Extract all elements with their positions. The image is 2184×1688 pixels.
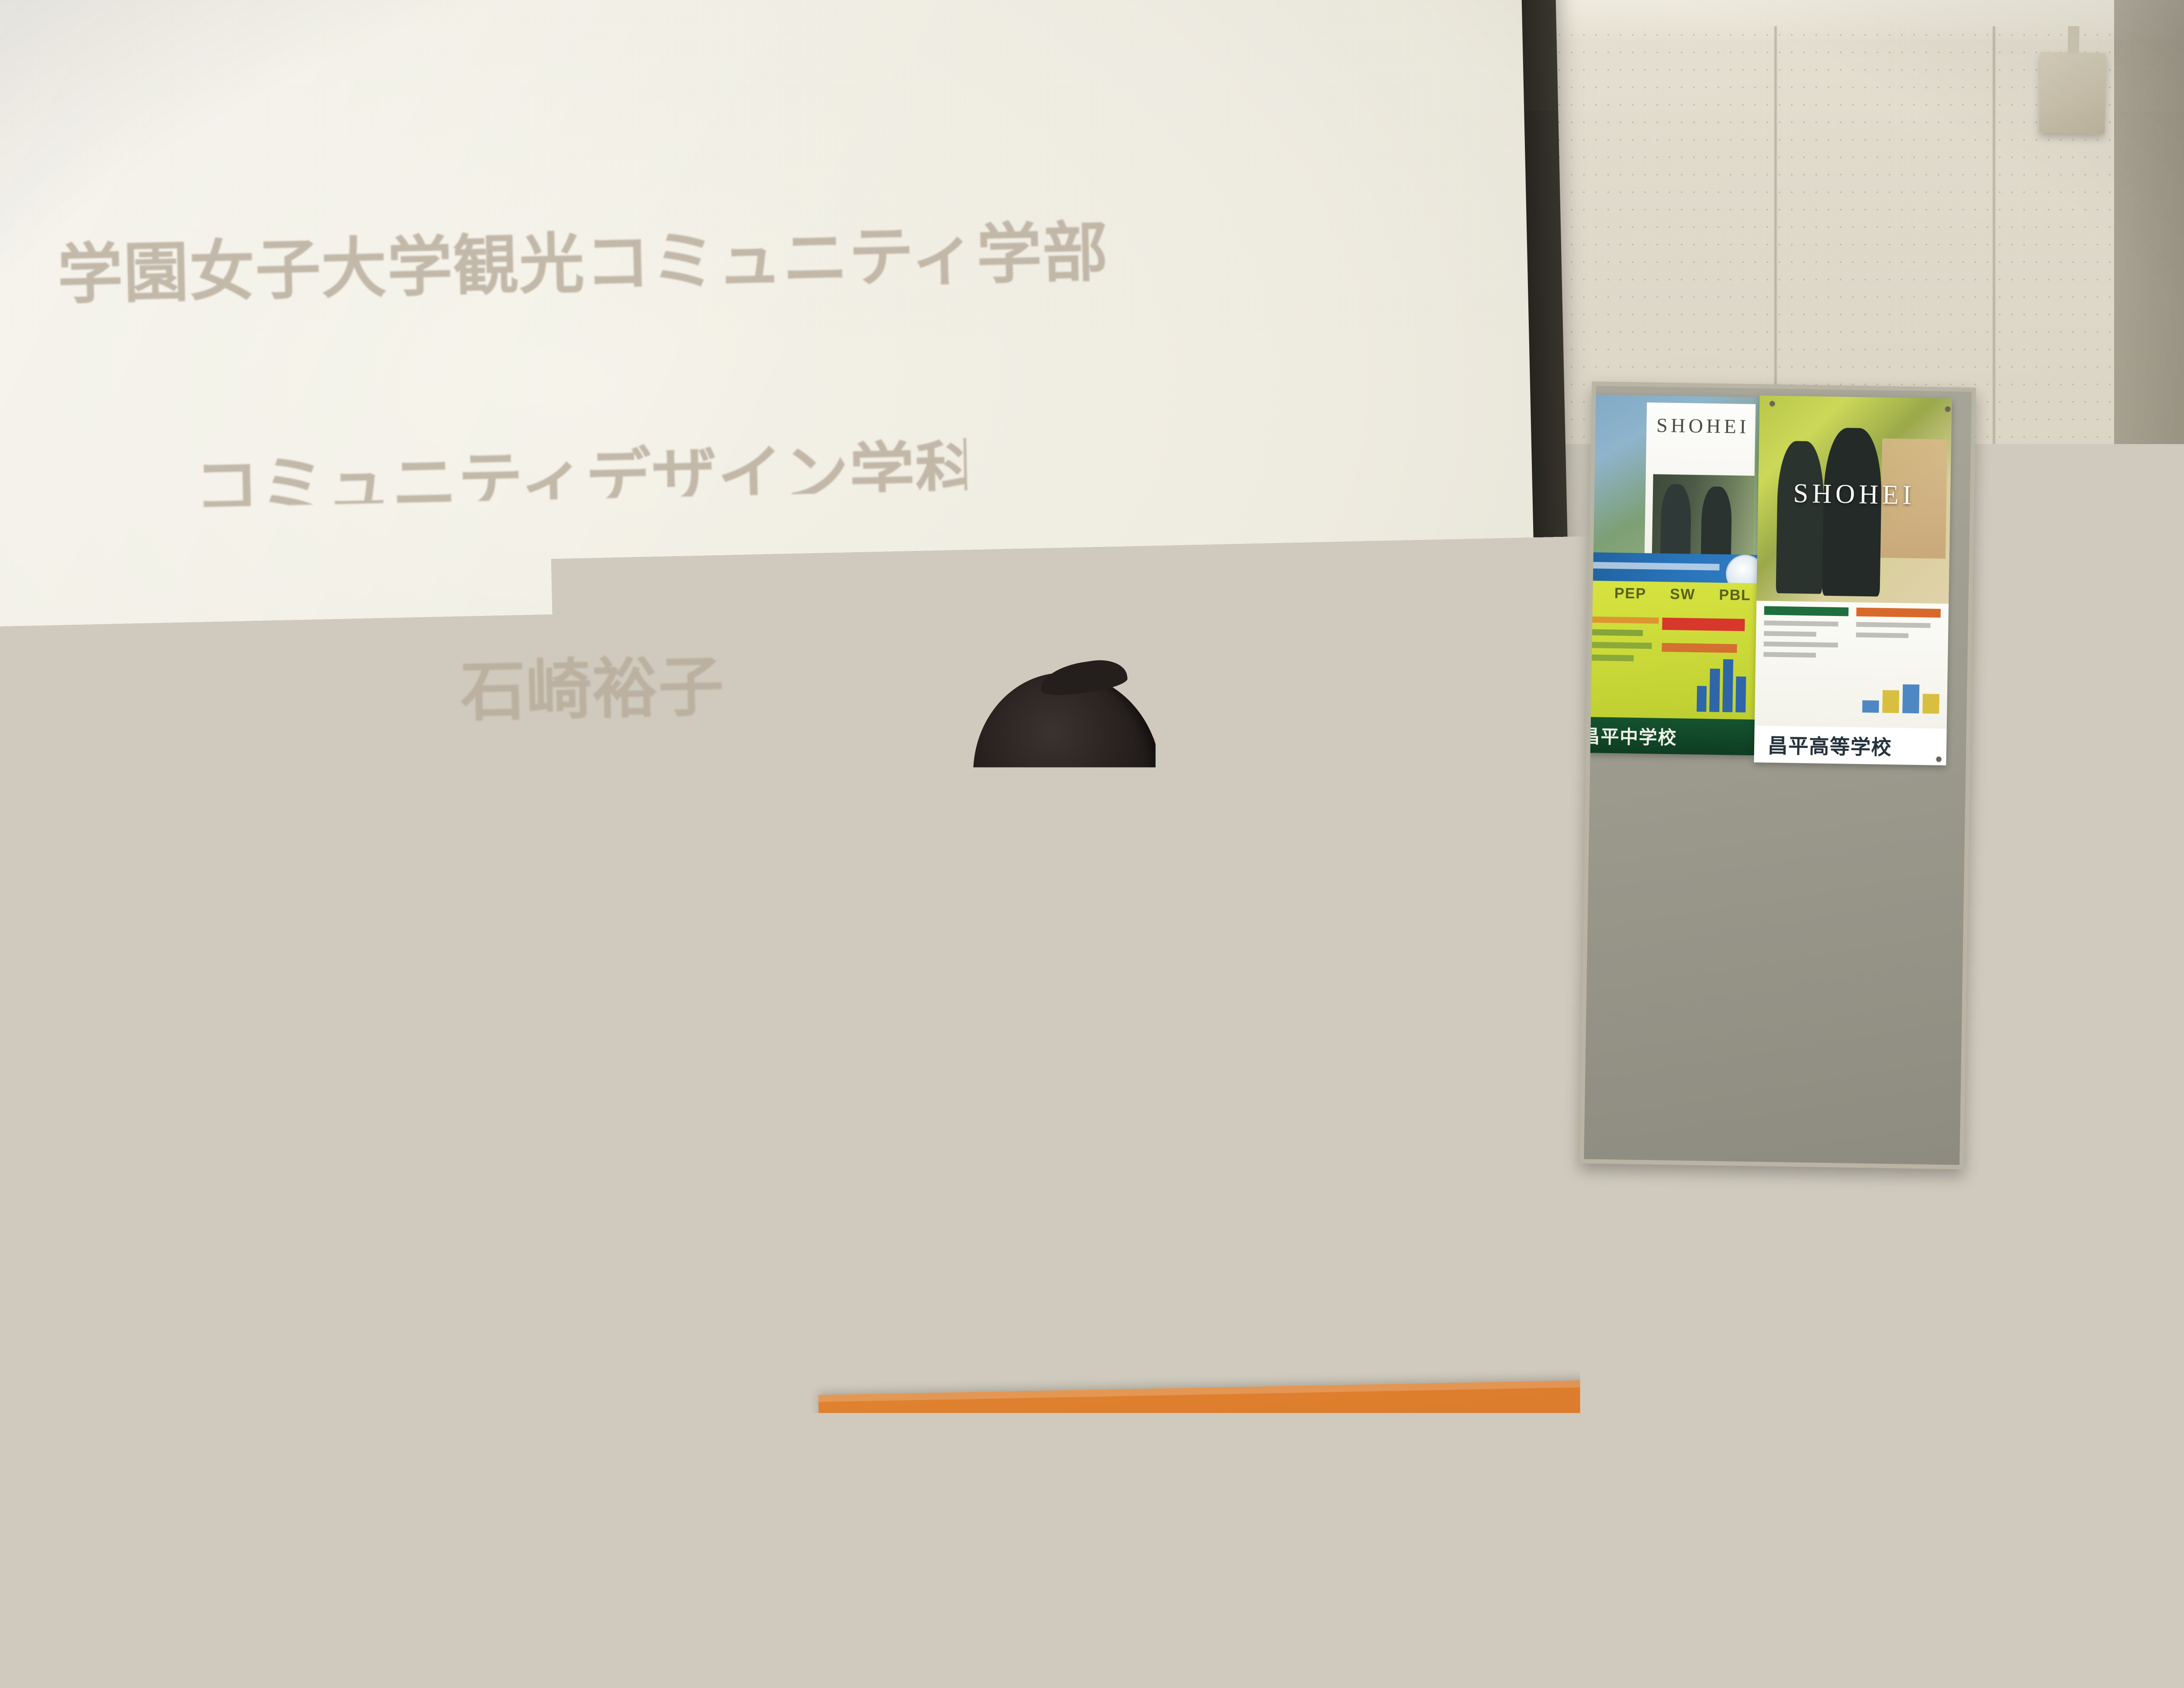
- poster-b-header-bar: [1856, 608, 1941, 618]
- poster-a-row: [1584, 629, 1643, 636]
- bulletin-board: SHOHEI IB PEP SW PBL: [1579, 381, 1976, 1169]
- poster-a-bar: [1697, 686, 1707, 712]
- poster-a-row: [1584, 642, 1652, 649]
- poster-a-row: [1584, 654, 1634, 661]
- wall-fixture-bracket: [2039, 52, 2106, 134]
- poster-b-info-panel: [1755, 601, 1949, 729]
- poster-b-bar-chart: [1863, 680, 1940, 713]
- poster-b-column-right: [1856, 608, 1941, 644]
- poster-b-bar: [1923, 694, 1940, 713]
- speaker-nose: [1158, 797, 1183, 837]
- poster-shohei-junior-high: SHOHEI IB PEP SW PBL: [1584, 394, 1759, 755]
- poster-b-text-line: [1856, 633, 1908, 638]
- poster-b-text-line: [1764, 620, 1838, 626]
- poster-b-header-bar: [1764, 606, 1849, 616]
- poster-a-bar: [1735, 677, 1746, 713]
- poster-a-bar: [1710, 669, 1720, 712]
- program-code-sw: SW: [1670, 586, 1696, 603]
- speaker-hair: [973, 673, 1161, 847]
- poster-b-column-left: [1763, 606, 1849, 664]
- poster-a-red-bar: [1662, 618, 1745, 631]
- poster-a-brand: SHOHEI: [1654, 413, 1752, 438]
- badge-text-line: [1153, 1179, 1234, 1189]
- poster-b-bar: [1903, 685, 1920, 713]
- poster-a-bar: [1722, 659, 1733, 712]
- poster-a-program-codes: IB PEP SW PBL: [1584, 584, 1751, 604]
- poster-a-red-bar-2: [1662, 643, 1737, 653]
- lecture-hall-photo: 現に向けて 学園女子大学観光コミュニティ学部 コミュニティデザイン学科 石崎裕子…: [0, 0, 2184, 1688]
- poster-a-footer-school-name: 昌平中学校: [1584, 716, 1755, 755]
- poster-b-photo: SHOHEI: [1756, 395, 1952, 604]
- poster-b-student-2: [1822, 427, 1882, 597]
- badge-text-lines: [1153, 1179, 1235, 1208]
- poster-b-text-line: [1763, 641, 1838, 647]
- program-code-pbl: PBL: [1719, 586, 1751, 604]
- badge-color-band: [1144, 1158, 1240, 1175]
- wall-seam-vertical-3: [1992, 26, 1996, 1468]
- badge-text-line: [1153, 1188, 1211, 1196]
- poster-b-footer-school-name: 昌平高等学校: [1754, 726, 1946, 765]
- badge-text-line: [1154, 1197, 1201, 1204]
- microphone-head: [1192, 902, 1244, 965]
- poster-b-bar: [1883, 690, 1900, 713]
- poster-b-brand: SHOHEI: [1758, 477, 1951, 512]
- speaker-finger: [1172, 1031, 1253, 1061]
- speaker-finger: [1178, 1087, 1248, 1115]
- speaker-finger: [1181, 1113, 1243, 1140]
- program-code-pep: PEP: [1614, 585, 1647, 602]
- speaker-finger: [1175, 1060, 1250, 1088]
- poster-b-text-line: [1856, 622, 1931, 628]
- poster-a-row: [1584, 616, 1659, 624]
- bulletin-board-inner: SHOHEI IB PEP SW PBL: [1584, 386, 1972, 1165]
- poster-b-text-line: [1764, 631, 1816, 636]
- wall-corner-shadow: [2114, 0, 2184, 1005]
- poster-b-student-1: [1776, 441, 1825, 594]
- poster-shohei-high-school: SHOHEI: [1754, 395, 1952, 765]
- id-name-badge: [1142, 1135, 1243, 1218]
- poster-b-bar: [1863, 700, 1879, 713]
- poster-a-bar-chart: [1697, 654, 1746, 712]
- poster-b-text-line: [1763, 652, 1816, 657]
